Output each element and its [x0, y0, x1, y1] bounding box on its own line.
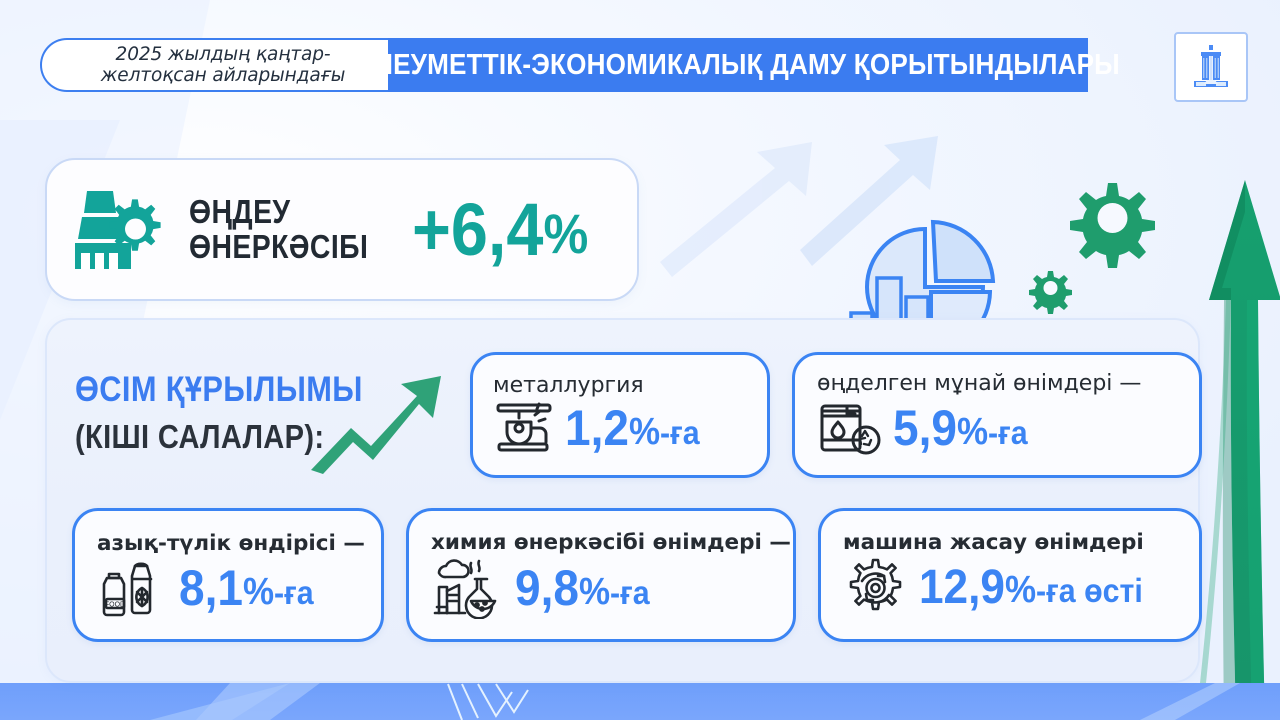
report-period-pill: 2025 жылдың қаңтар-желтоқсан айларындағы [40, 38, 388, 92]
stat-value: 1,2%-ға [565, 403, 700, 453]
akimat-building-logo [1186, 43, 1236, 91]
stat-value: 5,9%-ға [893, 403, 1028, 453]
stat-card-metallurgy[interactable]: металлургия 1,2%-ға [470, 352, 770, 478]
stat-card-food-production[interactable]: азық-түлік өндірісі — FOOD 8,1%-ға [72, 508, 384, 642]
infographic-canvas: 2025 жылдың қаңтар-желтоқсан айларындағы… [0, 0, 1280, 720]
metallurgy-ladle-icon [493, 400, 555, 456]
oil-barrel-recycle-icon [817, 398, 883, 458]
section-title-line2: (КІШІ САЛАЛАР): [75, 420, 339, 453]
svg-text:FOOD: FOOD [105, 601, 125, 608]
stat-title: машина жасау өнімдері [843, 531, 1177, 555]
report-period-text: 2025 жылдың қаңтар-желтоқсан айларындағы [72, 44, 374, 87]
stat-title: металлургия [493, 374, 747, 398]
stat-title: азық-түлік өндірісі — [97, 532, 359, 556]
stat-value: 12,9%-ға өсті [919, 564, 1143, 612]
percent-sign: % [543, 202, 588, 265]
factory-gear-icon [73, 187, 169, 273]
stat-value: 9,8%-ға [515, 563, 650, 613]
section-title-line1: ӨСІМ ҚҰРЫЛЫМЫ [75, 372, 339, 407]
manufacturing-label: ӨҢДЕУ ӨНЕРКӘСІБІ [189, 195, 368, 264]
page-header: 2025 жылдың қаңтар-желтоқсан айларындағы… [40, 38, 1088, 92]
page-title-banner: ӘЛЕУМЕТТІК-ЭКОНОМИКАЛЫҚ ДАМУ ҚОРЫТЫНДЫЛА… [388, 38, 1088, 92]
akimat-logo [1174, 32, 1248, 102]
manufacturing-headline-card: ӨҢДЕУ ӨНЕРКӘСІБІ +6,4% [45, 158, 639, 301]
stat-title: өңделген мұнай өнімдері — [817, 372, 1177, 396]
chemical-plant-flask-icon [431, 557, 505, 619]
growth-arrow-icon [305, 370, 445, 480]
stat-card-machinery[interactable]: машина жасау өнімдері 12,9%-ға өсті [818, 508, 1202, 642]
stat-card-chemistry[interactable]: химия өнеркәсібі өнімдері — [406, 508, 796, 642]
food-products-icon: FOOD [97, 558, 169, 618]
stat-card-oil-products[interactable]: өңделген мұнай өнімдері — 5,9%-ға [792, 352, 1202, 478]
gear-icon-large [1070, 183, 1155, 268]
stat-title: химия өнеркәсібі өнімдері — [431, 531, 771, 555]
gear-icon-small [1029, 271, 1072, 314]
stat-value: 8,1%-ға [179, 563, 314, 613]
gear-rotation-icon [843, 557, 909, 619]
manufacturing-value: +6,4% [412, 193, 588, 267]
page-title: ӘЛЕУМЕТТІК-ЭКОНОМИКАЛЫҚ ДАМУ ҚОРЫТЫНДЫЛА… [356, 49, 1120, 82]
